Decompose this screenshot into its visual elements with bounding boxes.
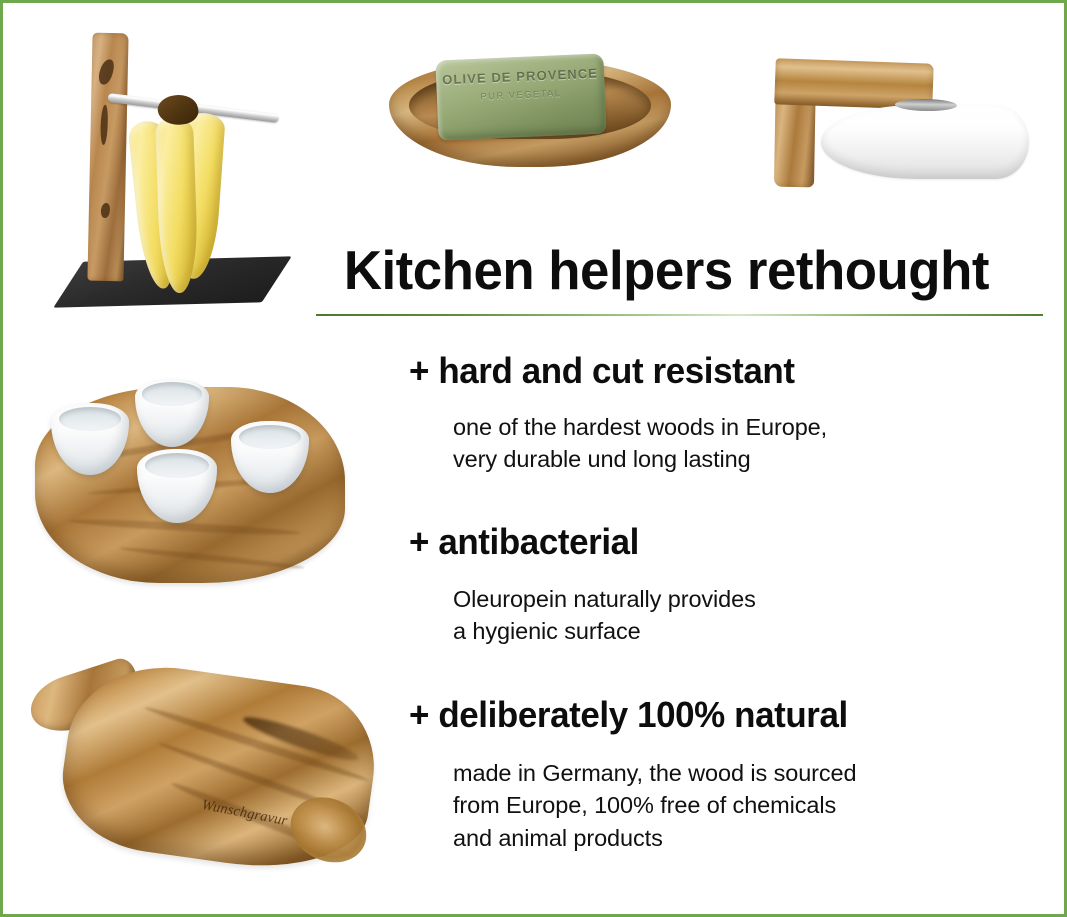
page-title: Kitchen helpers rethought (316, 241, 1017, 300)
soap-bar: OLIVE DE PROVENCE PUR VEGETAL (435, 53, 606, 140)
poster-canvas: OLIVE DE PROVENCE PUR VEGETAL (0, 0, 1067, 917)
feature-heading: + hard and cut resistant (409, 350, 795, 392)
product-soap-dish: OLIVE DE PROVENCE PUR VEGETAL (389, 51, 671, 173)
wood-knot (100, 105, 108, 145)
feature-description: one of the hardest woods in Europe, very… (453, 411, 827, 476)
olive-wood-cutting-board (54, 654, 385, 881)
feature-description: made in Germany, the wood is sourced fro… (453, 757, 857, 854)
wood-knot (97, 58, 116, 86)
wood-burl (280, 786, 376, 874)
product-banana-holder (58, 21, 308, 321)
product-kitchen-roll-holder (775, 61, 1037, 201)
feature-description: Oleuropein naturally provides a hygienic… (453, 583, 756, 648)
feature-heading: + antibacterial (409, 521, 639, 563)
product-serving-board-with-bowls (35, 369, 345, 597)
product-cutting-board: Wunschgravur (29, 655, 375, 877)
feature-heading: + deliberately 100% natural (409, 694, 848, 736)
title-divider (316, 314, 1043, 316)
soap-subtitle-text: PUR VEGETAL (437, 86, 605, 104)
olive-wood-post (87, 33, 128, 282)
paper-roll (821, 105, 1029, 179)
wood-grain (119, 545, 305, 570)
soap-brand-text: OLIVE DE PROVENCE (436, 65, 604, 87)
wood-knot (101, 203, 110, 218)
